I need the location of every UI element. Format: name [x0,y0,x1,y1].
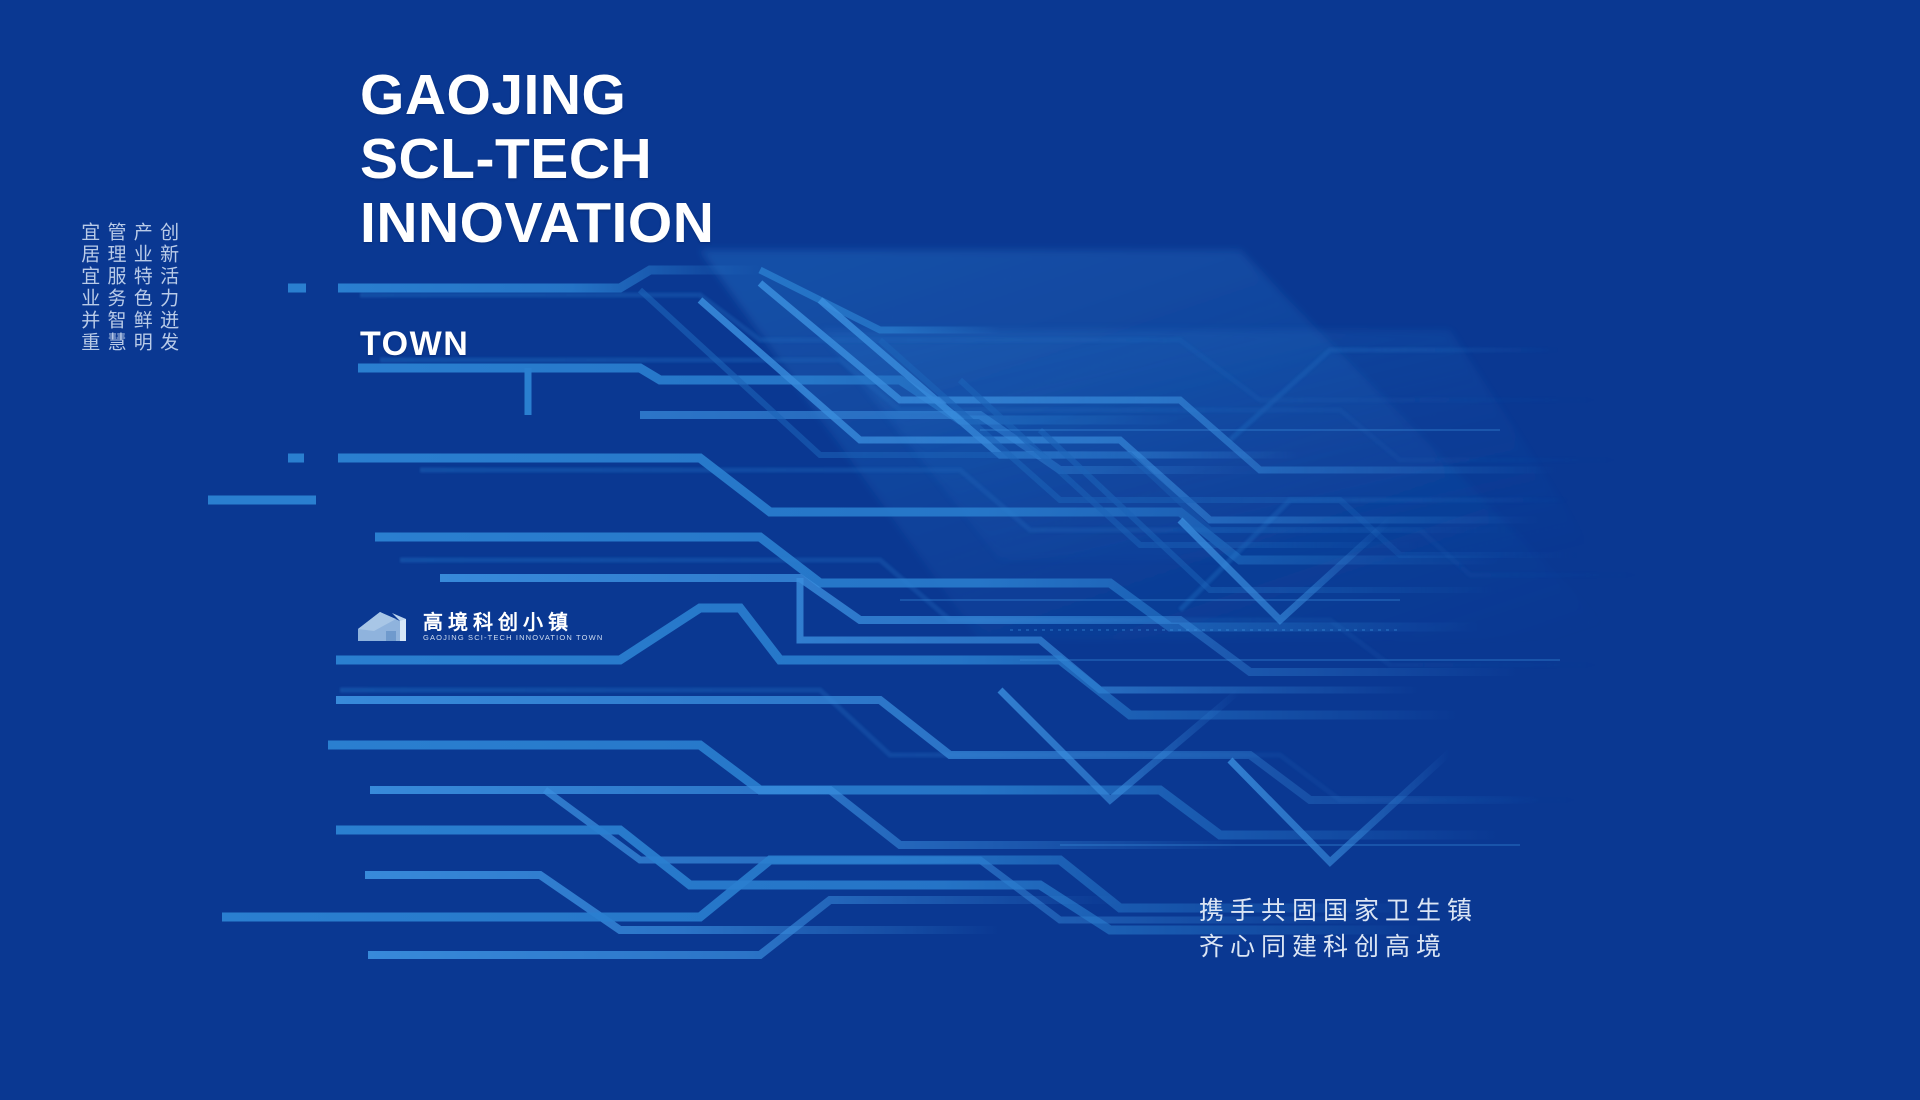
logo-name-en: GAOJING SCI-TECH INNOVATION TOWN [423,634,603,642]
title-line-3: INNOVATION [360,196,714,252]
house-roof-icon [356,605,414,649]
vertical-slogan-line: 管理服务智慧 [104,222,125,354]
title-subword-town: TOWN [360,325,469,364]
logo-name-cn: 高境科创小镇 [423,612,603,632]
bottom-slogan-line: 携手共固国家卫生镇 [1199,897,1478,926]
bottom-slogan: 携手共固国家卫生镇 齐心同建科创高境 [1199,897,1478,962]
title-line-1: GAOJING [360,68,714,124]
circuit-trace-background [0,0,1920,1100]
vertical-slogan: 创新活力迸发 产业特色鲜明 管理服务智慧 宜居宜业并重 [78,222,178,354]
title-line-2: SCL-TECH [360,132,714,188]
page-title: GAOJING SCL-TECH INNOVATION [360,68,714,260]
bottom-slogan-line: 齐心同建科创高境 [1199,933,1478,962]
logo-text-group: 高境科创小镇 GAOJING SCI-TECH INNOVATION TOWN [423,612,603,642]
poster-canvas: 创新活力迸发 产业特色鲜明 管理服务智慧 宜居宜业并重 GAOJING SCL-… [0,0,1920,1100]
vertical-slogan-line: 宜居宜业并重 [78,222,99,354]
vertical-slogan-line: 创新活力迸发 [157,222,178,354]
logo-lockup: 高境科创小镇 GAOJING SCI-TECH INNOVATION TOWN [356,605,603,649]
vertical-slogan-line: 产业特色鲜明 [131,222,152,354]
